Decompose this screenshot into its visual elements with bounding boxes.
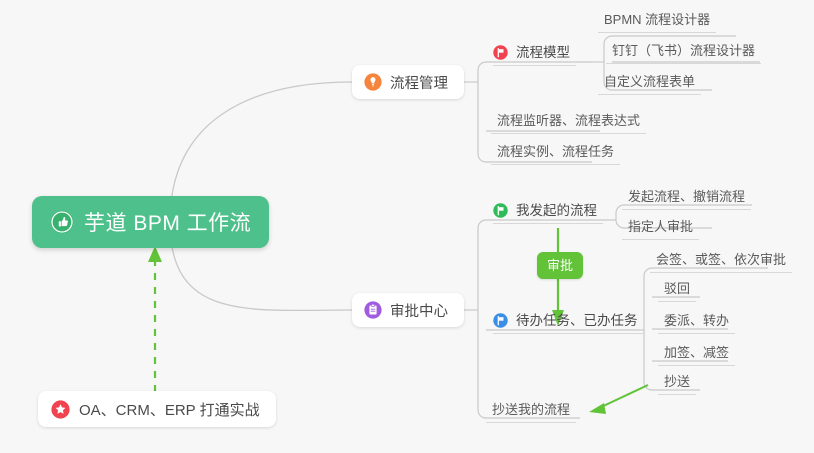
node-process-management-label: 流程管理: [390, 72, 448, 93]
star-icon: [51, 400, 70, 419]
node-approval-center[interactable]: 审批中心: [352, 293, 464, 327]
leaf-assignee-approval[interactable]: 指定人审批: [622, 218, 699, 240]
flag-icon: [493, 203, 508, 218]
node-process-model[interactable]: 流程模型: [493, 44, 576, 66]
wire-pm-bus: [478, 62, 486, 162]
location-pin-icon: [364, 73, 382, 91]
wire-ac-bus: [478, 220, 486, 418]
leaf-countersign-orsign-sequential[interactable]: 会签、或签、依次审批: [650, 251, 792, 273]
wire-todo-bus: [644, 268, 652, 390]
node-approval-center-label: 审批中心: [390, 300, 448, 321]
root-label: 芋道 BPM 工作流: [84, 207, 251, 237]
node-todo-done-tasks[interactable]: 待办任务、已办任务: [493, 312, 644, 334]
node-process-management[interactable]: 流程管理: [352, 65, 464, 99]
flag-icon: [493, 45, 508, 60]
leaf-carbon-copy[interactable]: 抄送: [658, 373, 696, 395]
root-node[interactable]: 芋道 BPM 工作流: [32, 196, 269, 248]
thumbs-up-icon: [50, 210, 74, 234]
leaf-process-listener[interactable]: 流程监听器、流程表达式: [491, 112, 646, 134]
annotation-arrow-cc: [589, 385, 648, 414]
flag-icon: [493, 313, 508, 328]
leaf-cc-to-me-processes[interactable]: 抄送我的流程: [486, 401, 576, 423]
node-my-initiated-processes[interactable]: 我发起的流程: [493, 202, 603, 224]
clipboard-icon: [364, 301, 382, 319]
leaf-start-cancel-process[interactable]: 发起流程、撤销流程: [622, 188, 751, 210]
node-integration-practice-label: OA、CRM、ERP 打通实战: [79, 399, 260, 420]
leaf-process-instance[interactable]: 流程实例、流程任务: [491, 143, 620, 165]
leaf-custom-process-form[interactable]: 自定义流程表单: [598, 73, 701, 95]
mindmap-canvas: 芋道 BPM 工作流 流程管理 流程模型 BPMN 流程设计器 钉钉（飞书）流程…: [0, 0, 814, 453]
node-my-initiated-processes-label: 我发起的流程: [516, 202, 597, 219]
leaf-delegate-transfer[interactable]: 委派、转办: [658, 312, 735, 334]
node-todo-done-tasks-label: 待办任务、已办任务: [516, 312, 638, 329]
node-process-model-label: 流程模型: [516, 44, 570, 61]
annotation-arrow-integration: [148, 246, 162, 392]
annotation-badge-approval: 审批: [537, 252, 583, 279]
leaf-add-remove-sign[interactable]: 加签、减签: [658, 344, 735, 366]
leaf-bpmn-designer[interactable]: BPMN 流程设计器: [598, 11, 716, 33]
leaf-reject[interactable]: 驳回: [658, 280, 696, 302]
node-integration-practice[interactable]: OA、CRM、ERP 打通实战: [38, 391, 276, 427]
leaf-dingtalk-feishu-designer[interactable]: 钉钉（飞书）流程设计器: [606, 42, 761, 64]
